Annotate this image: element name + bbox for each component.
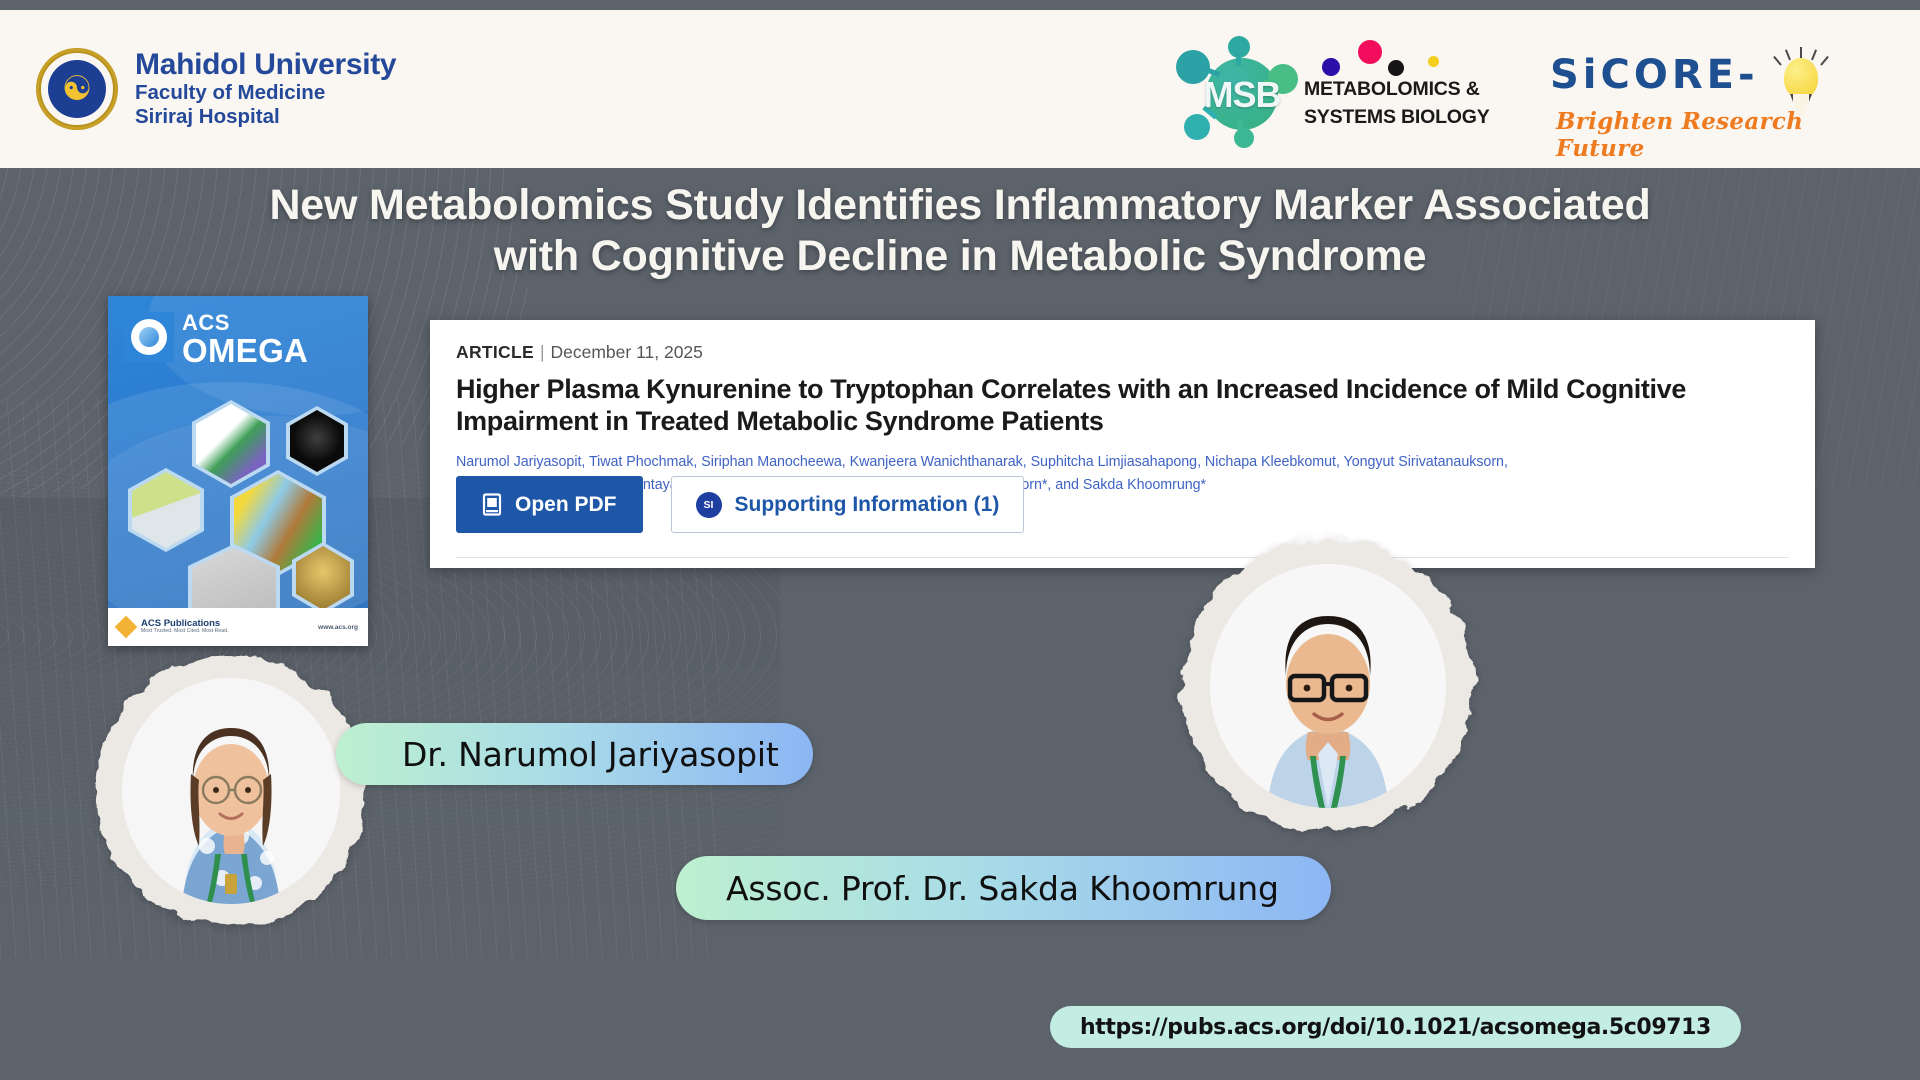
sicore-wordmark: SiCORE- (1550, 52, 1759, 98)
publisher-name: ACS Publications (141, 618, 220, 629)
hospital-name: Siriraj Hospital (135, 105, 396, 129)
supporting-information-button[interactable]: SI Supporting Information (1) (671, 476, 1025, 533)
msb-logo: MSB METABOLOMICS & SYSTEMS BIOLOGY (1176, 30, 1456, 150)
msb-dot-blue (1322, 58, 1340, 76)
seal-ring (36, 48, 118, 130)
meta-separator: | (540, 342, 545, 362)
avatar (122, 678, 340, 904)
article-action-buttons: Open PDF SI Supporting Information (1) (456, 476, 1024, 533)
article-date: December 11, 2025 (550, 342, 702, 362)
mahidol-university-logo: ☯ Mahidol University Faculty of Medicine… (36, 48, 396, 130)
open-pdf-button[interactable]: Open PDF (456, 476, 643, 533)
page-title: New Metabolomics Study Identifies Inflam… (0, 180, 1920, 281)
portrait-sakda-khoomrung (1182, 540, 1474, 832)
header-bar: ☯ Mahidol University Faculty of Medicine… (0, 10, 1920, 168)
title-line-1: New Metabolomics Study Identifies Inflam… (0, 180, 1920, 231)
msb-acronym: MSB (1196, 74, 1288, 116)
cover-footer: ACS Publications Most Trusted. Most Cite… (108, 608, 368, 646)
sicore-tagline: Brighten Research Future (1556, 108, 1860, 162)
msb-dot-black (1388, 60, 1404, 76)
university-name: Mahidol University (135, 49, 396, 81)
cover-website: www.acs.org (318, 624, 358, 631)
acs-publications-diamond-icon (115, 616, 138, 639)
card-divider (456, 557, 1789, 558)
acs-publications-label: ACS Publications Most Trusted. Most Cite… (141, 619, 229, 635)
acs-logo-icon (124, 312, 174, 362)
article-type-label: ARTICLE (456, 342, 534, 362)
top-strip (0, 0, 1920, 10)
name-pill-narumol: Dr. Narumol Jariyasopit (336, 723, 813, 785)
avatar (1210, 564, 1446, 808)
msb-dot-pink (1358, 40, 1382, 64)
msb-tagline-line1: METABOLOMICS & (1304, 78, 1480, 101)
journal-cover-image: ACS OMEGA ACS Publications Most Trusted.… (108, 296, 368, 646)
article-card: ARTICLE|December 11, 2025 Higher Plasma … (430, 320, 1815, 568)
sicore-logo: SiCORE- Brighten Research Future (1550, 36, 1860, 148)
article-url-badge[interactable]: https://pubs.acs.org/doi/10.1021/acsomeg… (1050, 1006, 1741, 1048)
faculty-name: Faculty of Medicine (135, 81, 396, 105)
mahidol-text-block: Mahidol University Faculty of Medicine S… (135, 49, 396, 130)
si-badge-icon: SI (696, 492, 722, 518)
authors-line-1[interactable]: Narumol Jariyasopit, Tiwat Phochmak, Sir… (456, 451, 1789, 474)
publisher-tagline: Most Trusted. Most Cited. Most Read. (141, 629, 229, 635)
cover-brand-bottom: OMEGA (182, 334, 308, 367)
article-title: Higher Plasma Kynurenine to Tryptophan C… (456, 374, 1789, 437)
open-pdf-label: Open PDF (515, 493, 617, 517)
article-meta: ARTICLE|December 11, 2025 (456, 342, 1789, 363)
article-url: https://pubs.acs.org/doi/10.1021/acsomeg… (1080, 1015, 1711, 1040)
portrait-narumol-jariyasopit (96, 656, 366, 926)
msb-dot-yellow (1428, 56, 1439, 67)
mahidol-seal-icon: ☯ (36, 48, 118, 130)
person-name: Dr. Narumol Jariyasopit (402, 735, 779, 774)
title-line-2: with Cognitive Decline in Metabolic Synd… (0, 231, 1920, 282)
msb-tagline-line2: SYSTEMS BIOLOGY (1304, 106, 1490, 129)
name-pill-sakda: Assoc. Prof. Dr. Sakda Khoomrung (676, 856, 1331, 920)
supporting-information-label: Supporting Information (1) (735, 493, 1000, 517)
cover-brand-top: ACS (182, 312, 230, 334)
pdf-document-icon (482, 493, 504, 517)
person-name: Assoc. Prof. Dr. Sakda Khoomrung (726, 869, 1279, 908)
